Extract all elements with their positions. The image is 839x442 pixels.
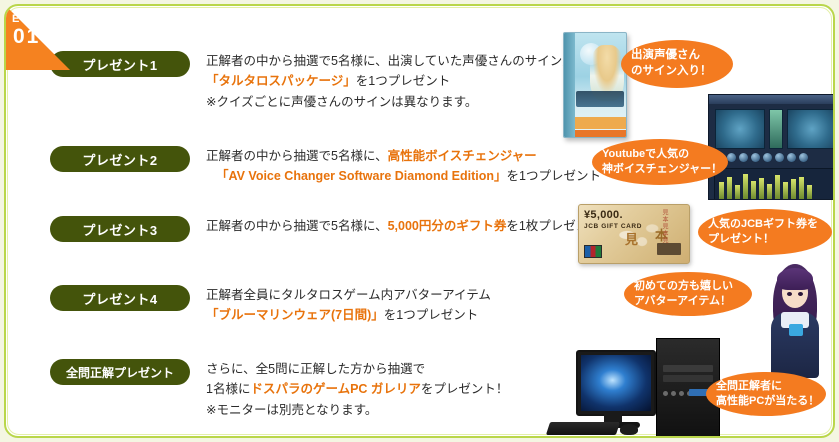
prize-button-4[interactable]: プレゼント4 [50,285,190,311]
prize-description-1: 正解者の中から抽選で5名様に、出演していた声優さんのサイン入り 「タルタロスパッ… [206,51,587,112]
callout-line-2: アバターアイテム！ [634,294,742,309]
prize-text-highlight: 「ブルーマリンウェア(7日間)」 [206,308,384,322]
software-pad-left [715,109,765,149]
avatar-hair-front [777,268,813,290]
game-box-band-lower [575,130,626,137]
prize-text: 正解者全員にタルタロスゲーム内アバターアイテム [206,288,491,302]
prize-text-highlight: 「AV Voice Changer Software Diamond Editi… [216,169,507,183]
callout-avatar-item: 初めての方も嬉しい アバターアイテム！ [624,272,752,316]
prize-row-2: プレゼント2 正解者の中から抽選で5名様に、高性能ボイスチェンジャー 「AV V… [50,146,601,187]
prize-text: を1つプレゼント [384,308,478,322]
prize-description-4: 正解者全員にタルタロスゲーム内アバターアイテム 「ブルーマリンウェア(7日間)」… [206,285,491,326]
pc-monitor [576,350,656,416]
callout-line-2: 神ボイスチェンジャー！ [602,162,718,177]
event-ribbon: EVENT 01 [6,6,98,98]
pc-monitor-screen [581,355,651,411]
prize-text: 正解者の中から抽選で5名様に、 [206,219,388,233]
game-box-band [575,117,626,129]
callout-gaming-pc: 全問正解者に 高性能PCが当たる！ [706,372,826,416]
voice-changer-software-image [708,94,835,200]
jcb-logo-icon [584,245,602,258]
callout-line-1: Youtubeで人気の [602,147,718,162]
prize-text: さらに、全5問に正解した方から抽選で [206,362,425,376]
software-pad-right [787,109,835,149]
prize-button-all-correct[interactable]: 全問正解プレゼント [50,359,190,385]
callout-line-1: 出演声優さん [631,48,723,64]
gift-card-amount: ¥5,000. [584,209,623,221]
prize-text: 正解者の中から抽選で5名様に、出演していた声優さんのサイン入り [206,54,587,68]
prize-button-2[interactable]: プレゼント2 [50,146,190,172]
pc-drive-bay-2 [663,375,713,382]
tartaros-package-image [563,32,627,138]
prize-row-5: 全問正解プレゼント さらに、全5問に正解した方から抽選で 1名様にドスパラのゲー… [50,359,508,420]
gaming-pc-image [542,338,732,438]
game-box-spine [564,33,575,137]
pc-keyboard [546,422,620,435]
software-titlebar [709,95,835,104]
prize-text: をプレゼント！ [421,382,509,396]
pc-front-ports [663,391,692,396]
prize-row-1: プレゼント1 正解者の中から抽選で5名様に、出演していた声優さんのサイン入り 「… [50,51,587,112]
prize-description-2: 正解者の中から抽選で5名様に、高性能ボイスチェンジャー 「AV Voice Ch… [206,146,601,187]
software-slider [769,109,783,149]
prize-text-highlight: 「タルタロスパッケージ」 [206,74,356,88]
pc-mouse [620,424,638,435]
campaign-frame-inner: EVENT 01 [4,4,835,438]
software-knob-row [709,149,835,166]
prize-text-highlight: 5,000円分のギフト券 [388,219,507,233]
prize-description-3: 正解者の中から抽選で5名様に、5,000円分のギフト券を1枚プレゼント [206,216,601,236]
avatar-eye-left [787,292,792,296]
callout-jcb-gift-card: 人気のJCBギフト券を プレゼント！ [698,209,832,255]
callout-line-2: プレゼント！ [708,232,822,247]
callout-voice-changer: Youtubeで人気の 神ボイスチェンジャー！ [592,139,728,185]
prize-text: を1つプレゼント [507,169,601,183]
game-box-logo [576,91,624,107]
gift-card-magnetic-strip [657,243,681,255]
prize-text: 正解者の中から抽選で5名様に、 [206,149,388,163]
callout-line-2: のサイン入り！ [631,64,723,80]
event-ribbon-label: EVENT 01 [12,14,56,47]
callout-voice-actor-sign: 出演声優さん のサイン入り！ [621,40,733,88]
campaign-banner: EVENT 01 [0,0,839,442]
prize-text: 1名様に [206,382,250,396]
avatar-eye-right [798,292,803,296]
jcb-gift-card-image: ¥5,000. JCB GIFT CARD 見 本 見本見本見本 [578,204,690,264]
prize-button-3[interactable]: プレゼント3 [50,216,190,242]
callout-line-1: 全問正解者に [716,379,816,394]
prize-note: ※モニターは別売となります。 [206,403,377,417]
callout-line-1: 人気のJCBギフト券を [708,217,822,232]
callout-line-2: 高性能PCが当たる！ [716,394,816,409]
gift-card-stamp-mi: 見 [625,229,638,248]
prize-row-3: プレゼント3 正解者の中から抽選で5名様に、5,000円分のギフト券を1枚プレゼ… [50,216,601,242]
event-number: 01 [13,26,56,47]
prize-note: ※クイズごとに声優さんのサインは異なります。 [206,95,477,109]
prize-row-4: プレゼント4 正解者全員にタルタロスゲーム内アバターアイテム 「ブルーマリンウェ… [50,285,491,326]
prize-text-highlight: 高性能ボイスチェンジャー [388,149,537,163]
pc-drive-bay [663,365,713,372]
event-word: EVENT [12,14,56,25]
prize-description-5: さらに、全5問に正解した方から抽選で 1名様にドスパラのゲームPC ガレリアをプ… [206,359,508,420]
software-pad-row [709,104,835,149]
software-equalizer [714,168,835,200]
prize-text: を1つプレゼント [356,74,450,88]
avatar-ribbon-tie [789,324,803,336]
callout-line-1: 初めての方も嬉しい [634,279,742,294]
avatar-character-image [763,262,825,378]
prize-text-highlight: ドスパラのゲームPC ガレリア [250,382,420,396]
